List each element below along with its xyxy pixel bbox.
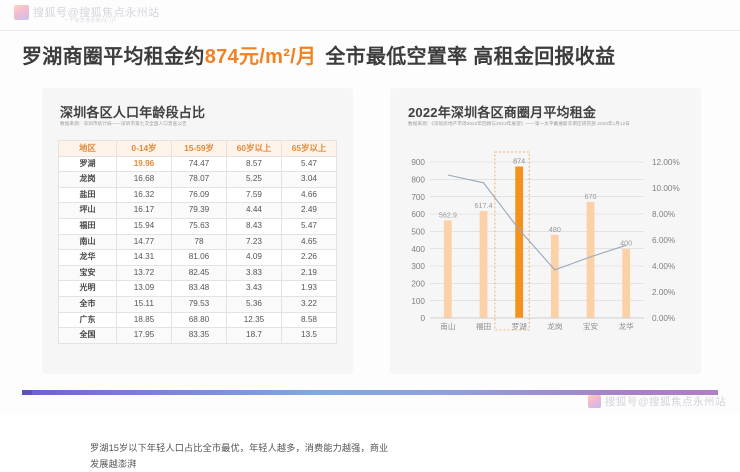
cell-0-14: 16.17 (117, 203, 172, 219)
cell-region: 盐田 (59, 187, 117, 203)
cell-65plus: 8.58 (282, 312, 337, 328)
table-row: 光明13.0983.483.431.93 (59, 281, 337, 297)
cell-60plus: 8.43 (227, 218, 282, 234)
header-divider (0, 30, 740, 31)
highlight-box (495, 152, 529, 330)
chart-bar (480, 211, 488, 318)
x-axis-tick-label: 南山 (440, 321, 455, 331)
chart-bar (444, 220, 452, 318)
right-panel-source: 数据来源：《深圳房地产市场2022年回顾与2023年展望》——第一太平戴维斯华南… (408, 120, 693, 128)
cell-15-59: 78.07 (172, 172, 227, 188)
bar-value-label: 562.9 (439, 210, 457, 219)
headline-highlight: 874元/m²/月 (205, 46, 317, 68)
col-header-65plus: 65岁以上 (282, 141, 337, 157)
cell-60plus: 5.36 (227, 296, 282, 312)
cell-15-59: 83.48 (172, 281, 227, 297)
y-axis-left-tick: 900 (411, 158, 425, 167)
y-axis-right-tick: 2.00% (652, 288, 675, 297)
watermark-top-subtext: 一个有态度的新闻门户 (64, 17, 117, 24)
cell-0-14: 15.11 (117, 296, 172, 312)
left-panel-source: 数据来源：深圳市统计局——深圳市第七次全国人口普查公告 (60, 120, 345, 128)
sohu-logo-icon-bottom (588, 395, 601, 408)
cell-60plus: 5.25 (227, 172, 282, 188)
cell-65plus: 5.47 (282, 218, 337, 234)
cell-65plus: 3.04 (282, 172, 337, 188)
footer-bar-cap (22, 390, 32, 395)
col-header-0-14: 0-14岁 (117, 141, 172, 157)
table-row: 全市15.1179.535.363.22 (59, 296, 337, 312)
bar-value-label: 617.4 (475, 201, 493, 210)
cell-0-14: 13.09 (117, 281, 172, 297)
sohu-logo-icon (14, 5, 29, 20)
cell-region: 全市 (59, 296, 117, 312)
headline-prefix: 罗湖商圈平均租金约 (22, 46, 205, 68)
table-row: 宝安13.7282.453.832.19 (59, 265, 337, 281)
y-axis-left-tick: 500 (411, 228, 425, 237)
cell-65plus: 5.47 (282, 156, 337, 172)
cell-region: 福田 (59, 218, 117, 234)
bar-value-label: 670 (585, 192, 597, 201)
y-axis-left-tick: 100 (411, 297, 425, 306)
cell-0-14: 16.68 (117, 172, 172, 188)
col-header-60plus: 60岁以上 (227, 141, 282, 157)
y-axis-right-tick: 8.00% (652, 210, 675, 219)
table-row: 全国17.9583.3518.713.5 (59, 328, 337, 344)
vacancy-rate-line (448, 175, 626, 270)
y-axis-left-tick: 600 (411, 210, 425, 219)
page-title: 罗湖商圈平均租金约874元/m²/月全市最低空置率 高租金回报收益 (22, 40, 615, 69)
y-axis-left-tick: 300 (411, 262, 425, 271)
slide-page: 搜狐号@搜狐焦点永州站 一个有态度的新闻门户 罗湖商圈平均租金约874元/m²/… (0, 0, 740, 414)
cell-0-14: 19.96 (117, 156, 172, 172)
cell-15-59: 68.80 (172, 312, 227, 328)
col-header-15-59: 15-59岁 (172, 141, 227, 157)
cell-15-59: 78 (172, 234, 227, 250)
right-panel: 2022年深圳各区商圈月平均租金 数据来源：《深圳房地产市场2022年回顾与20… (390, 88, 701, 374)
x-axis-tick-label: 宝安 (583, 321, 599, 331)
chart-bar (587, 202, 595, 318)
chart-bar (622, 249, 630, 318)
cell-65plus: 3.22 (282, 296, 337, 312)
population-table: 地区 0-14岁 15-59岁 60岁以上 65岁以上 罗湖19.9674.47… (58, 140, 337, 344)
table-row: 福田15.9475.638.435.47 (59, 218, 337, 234)
watermark-bottom-text: 搜狐号@搜狐焦点永州站 (605, 394, 726, 409)
table-header-row: 地区 0-14岁 15-59岁 60岁以上 65岁以上 (59, 141, 337, 157)
y-axis-left-tick: 0 (420, 314, 425, 323)
cell-65plus: 1.93 (282, 281, 337, 297)
cell-65plus: 13.5 (282, 328, 337, 344)
cell-65plus: 4.65 (282, 234, 337, 250)
cell-15-59: 79.53 (172, 296, 227, 312)
chart-bar (551, 235, 559, 318)
x-axis-tick-label: 罗湖 (512, 322, 528, 331)
table-row: 坪山16.1779.394.442.49 (59, 203, 337, 219)
watermark-bottom: 搜狐号@搜狐焦点永州站 (588, 394, 726, 409)
cell-0-14: 14.31 (117, 250, 172, 266)
cell-0-14: 15.94 (117, 218, 172, 234)
cell-60plus: 3.83 (227, 265, 282, 281)
table-row: 广东18.8568.8012.358.58 (59, 312, 337, 328)
left-panel-title: 深圳各区人口年龄段占比 (60, 102, 205, 121)
y-axis-right-tick: 10.00% (652, 184, 680, 193)
cell-60plus: 4.09 (227, 250, 282, 266)
y-axis-left-tick: 400 (411, 245, 425, 254)
cell-65plus: 2.49 (282, 203, 337, 219)
cell-0-14: 14.77 (117, 234, 172, 250)
cell-15-59: 74.47 (172, 156, 227, 172)
bar-value-label: 480 (549, 225, 561, 234)
cell-0-14: 16.32 (117, 187, 172, 203)
left-panel-caption: 罗湖15岁以下年轻人口占比全市最优，年轻人越多，消费能力越强，商业发展越澎湃 (90, 440, 390, 472)
cell-15-59: 82.45 (172, 265, 227, 281)
cell-60plus: 7.23 (227, 234, 282, 250)
table-row: 罗湖19.9674.478.575.47 (59, 156, 337, 172)
y-axis-left-tick: 700 (411, 193, 425, 202)
cell-15-59: 76.09 (172, 187, 227, 203)
rent-chart: 01002003004005006007008009000.00%2.00%4.… (400, 150, 692, 340)
cell-0-14: 18.85 (117, 312, 172, 328)
cell-60plus: 12.35 (227, 312, 282, 328)
cell-60plus: 7.59 (227, 187, 282, 203)
cell-region: 宝安 (59, 265, 117, 281)
chart-bar (515, 167, 523, 318)
table-row: 龙岗16.6878.075.253.04 (59, 172, 337, 188)
y-axis-right-tick: 0.00% (652, 314, 675, 323)
y-axis-left-tick: 800 (411, 176, 425, 185)
right-panel-title: 2022年深圳各区商圈月平均租金 (408, 102, 596, 121)
left-panel: 深圳各区人口年龄段占比 数据来源：深圳市统计局——深圳市第七次全国人口普查公告 … (42, 88, 353, 374)
cell-region: 龙华 (59, 250, 117, 266)
table-row: 盐田16.3276.097.594.66 (59, 187, 337, 203)
x-axis-tick-label: 龙岗 (547, 321, 562, 331)
cell-60plus: 8.57 (227, 156, 282, 172)
x-axis-tick-label: 福田 (476, 322, 491, 331)
cell-region: 罗湖 (59, 156, 117, 172)
cell-60plus: 18.7 (227, 328, 282, 344)
cell-65plus: 4.66 (282, 187, 337, 203)
headline-rest: 全市最低空置率 高租金回报收益 (325, 46, 615, 68)
cell-65plus: 2.26 (282, 250, 337, 266)
cell-15-59: 75.63 (172, 218, 227, 234)
cell-region: 龙岗 (59, 172, 117, 188)
table-row: 南山14.77787.234.65 (59, 234, 337, 250)
cell-0-14: 13.72 (117, 265, 172, 281)
cell-region: 坪山 (59, 203, 117, 219)
table-row: 龙华14.3181.064.092.26 (59, 250, 337, 266)
cell-region: 光明 (59, 281, 117, 297)
population-table-body: 罗湖19.9674.478.575.47龙岗16.6878.075.253.04… (59, 156, 337, 343)
cell-region: 广东 (59, 312, 117, 328)
cell-15-59: 79.39 (172, 203, 227, 219)
y-axis-left-tick: 200 (411, 280, 425, 289)
cell-15-59: 83.35 (172, 328, 227, 344)
cell-60plus: 3.43 (227, 281, 282, 297)
col-header-region: 地区 (59, 141, 117, 157)
y-axis-right-tick: 4.00% (652, 262, 675, 271)
cell-0-14: 17.95 (117, 328, 172, 344)
cell-region: 南山 (59, 234, 117, 250)
cell-60plus: 4.44 (227, 203, 282, 219)
x-axis-tick-label: 龙华 (619, 321, 635, 331)
cell-region: 全国 (59, 328, 117, 344)
bar-value-label: 874 (513, 157, 525, 166)
cell-65plus: 2.19 (282, 265, 337, 281)
cell-15-59: 81.06 (172, 250, 227, 266)
y-axis-right-tick: 12.00% (652, 158, 680, 167)
y-axis-right-tick: 6.00% (652, 236, 675, 245)
